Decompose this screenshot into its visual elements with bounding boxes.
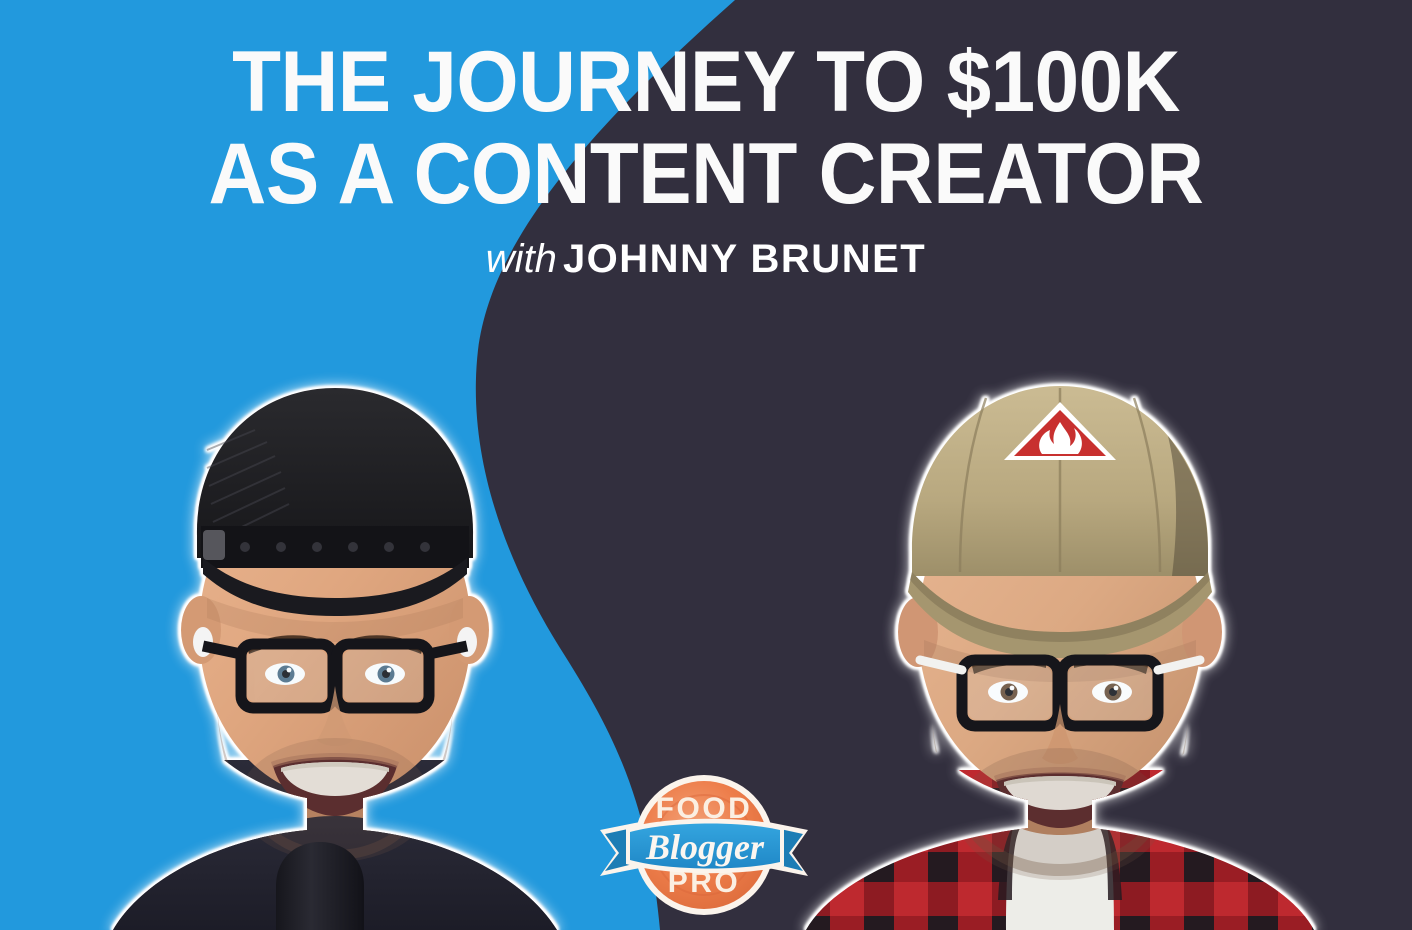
episode-graphic: THE JOURNEY TO $100K AS A CONTENT CREATO…	[0, 0, 1412, 930]
studio-microphone	[246, 840, 394, 930]
food-blogger-pro-logo-svg: FOOD PRO Blogger	[596, 760, 812, 930]
logo-blogger-script: Blogger	[645, 827, 765, 867]
food-blogger-pro-logo: FOOD PRO Blogger	[596, 760, 812, 930]
guest-photo-cutout	[800, 340, 1320, 930]
guest-illustration	[800, 340, 1320, 930]
